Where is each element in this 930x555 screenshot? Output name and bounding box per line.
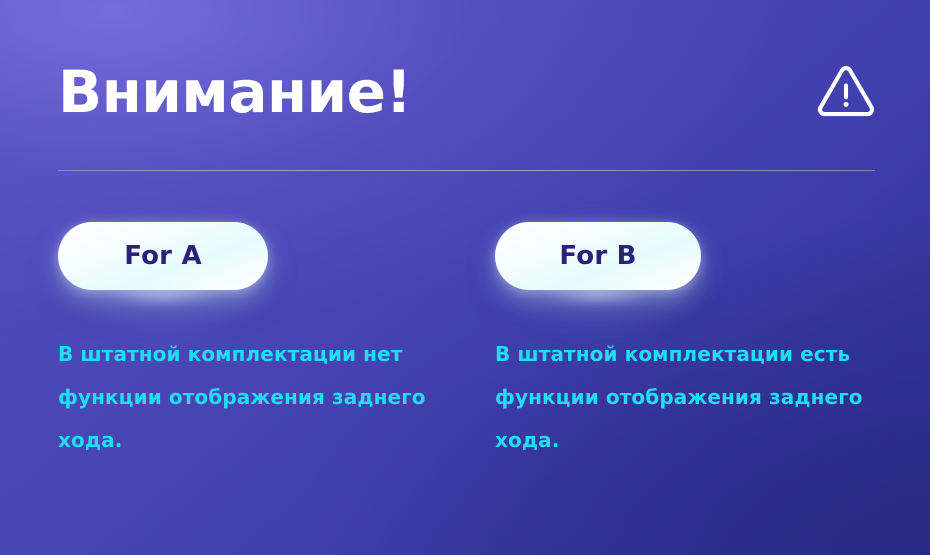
for-b-button[interactable]: For B xyxy=(495,222,701,290)
for-b-description: В штатной комплектации есть функции отоб… xyxy=(495,290,890,462)
for-a-button[interactable]: For A xyxy=(58,222,268,290)
warning-triangle-icon xyxy=(816,64,878,120)
for-a-description: В штатной комплектации нет функции отобр… xyxy=(58,290,448,462)
warning-slide: Внимание! For A В штатной комплектации н… xyxy=(0,0,930,555)
comparison-columns: For A В штатной комплектации нет функции… xyxy=(58,222,890,462)
page-title: Внимание! xyxy=(58,61,411,123)
header: Внимание! xyxy=(58,46,878,138)
column-for-b: For B В штатной комплектации есть функци… xyxy=(495,222,930,462)
column-for-a: For A В штатной комплектации нет функции… xyxy=(58,222,495,462)
header-divider xyxy=(58,170,875,171)
